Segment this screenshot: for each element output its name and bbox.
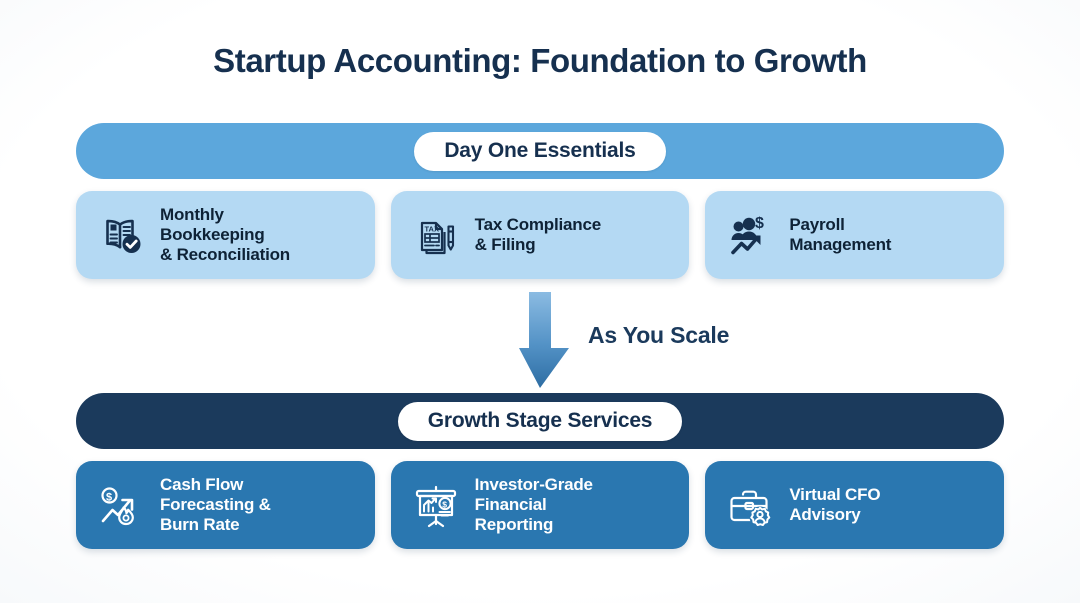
people-dollar-growth-icon: $	[723, 208, 777, 262]
card-monthly-bookkeeping[interactable]: Monthly Bookkeeping & Reconciliation	[76, 191, 375, 279]
card-virtual-cfo-advisory[interactable]: Virtual CFO Advisory	[705, 461, 1004, 549]
card-investor-grade-reporting[interactable]: $ Investor-Grade Financial Reporting	[391, 461, 690, 549]
connector-label: As You Scale	[588, 322, 729, 349]
card-label: Tax Compliance & Filing	[475, 215, 601, 255]
card-row-growth: $ Cash Flow Forecasting & Burn Rate	[76, 461, 1004, 549]
briefcase-gear-person-icon	[723, 478, 777, 532]
card-payroll-management[interactable]: $ Payroll Management	[705, 191, 1004, 279]
presentation-chart-dollar-icon: $	[409, 478, 463, 532]
page-title: Startup Accounting: Foundation to Growth	[0, 42, 1080, 80]
stage-band-day-one-essentials: Day One Essentials	[76, 123, 1004, 179]
stage-band-label-essentials: Day One Essentials	[414, 132, 665, 171]
svg-text:$: $	[442, 499, 447, 509]
dollar-growth-flame-icon: $	[94, 478, 148, 532]
card-cash-flow-forecasting[interactable]: $ Cash Flow Forecasting & Burn Rate	[76, 461, 375, 549]
infographic-canvas: Startup Accounting: Foundation to Growth…	[0, 0, 1080, 603]
down-arrow-icon	[508, 292, 572, 388]
card-label: Cash Flow Forecasting & Burn Rate	[160, 475, 271, 535]
svg-text:$: $	[106, 492, 112, 504]
card-label: Payroll Management	[789, 215, 891, 255]
card-row-essentials: Monthly Bookkeeping & Reconciliation TAX	[76, 191, 1004, 279]
card-label: Virtual CFO Advisory	[789, 485, 880, 525]
svg-text:$: $	[755, 215, 764, 232]
card-label: Monthly Bookkeeping & Reconciliation	[160, 205, 290, 265]
card-label: Investor-Grade Financial Reporting	[475, 475, 593, 535]
tax-document-pen-icon: TAX	[409, 208, 463, 262]
stage-band-growth-stage-services: Growth Stage Services	[76, 393, 1004, 449]
open-book-check-icon	[94, 208, 148, 262]
card-tax-compliance[interactable]: TAX Tax	[391, 191, 690, 279]
svg-text:TAX: TAX	[424, 225, 438, 234]
stage-band-label-growth: Growth Stage Services	[398, 402, 683, 441]
